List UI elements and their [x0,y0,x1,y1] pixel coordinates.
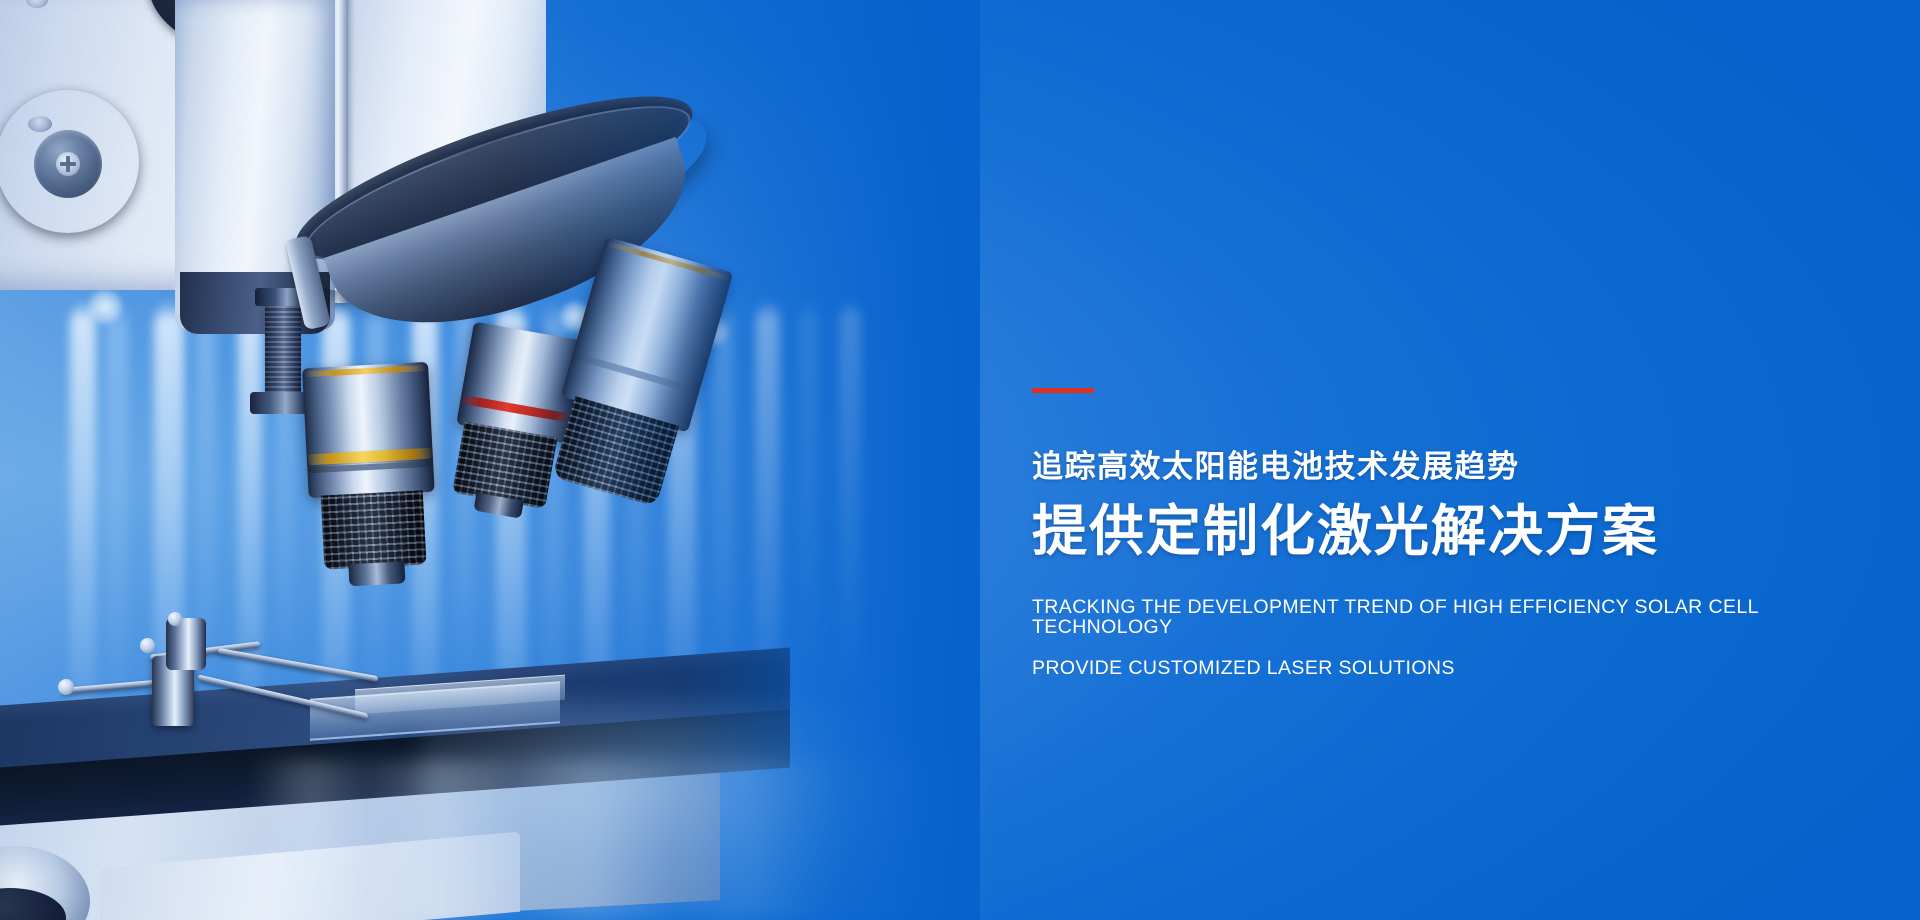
hero-title-cn: 提供定制化激光解决方案 [1032,499,1842,564]
hero-banner: 追踪高效太阳能电池技术发展趋势 提供定制化激光解决方案 TRACKING THE… [0,0,1920,920]
hero-subtitle-cn: 追踪高效太阳能电池技术发展趋势 [1032,448,1842,485]
red-accent-rule [1032,388,1094,393]
screw-icon [56,152,80,176]
objective-lens-yellow-band [294,361,448,598]
hero-text-block: 追踪高效太阳能电池技术发展趋势 提供定制化激光解决方案 TRACKING THE… [1032,388,1842,679]
focus-knob [0,90,139,233]
screw-icon [26,0,48,8]
stage-clip-knob [166,618,206,670]
stage-clip-ball [168,612,182,626]
stage-clip-ball [140,638,155,653]
microscope-photo [0,0,980,920]
hero-english-line-2: PROVIDE CUSTOMIZED LASER SOLUTIONS [1032,659,1842,679]
bokeh-dot [88,290,122,324]
hero-english-line-1: TRACKING THE DEVELOPMENT TREND OF HIGH E… [1032,598,1842,637]
screw-icon [28,116,52,132]
stage-clip-ball [58,679,74,695]
